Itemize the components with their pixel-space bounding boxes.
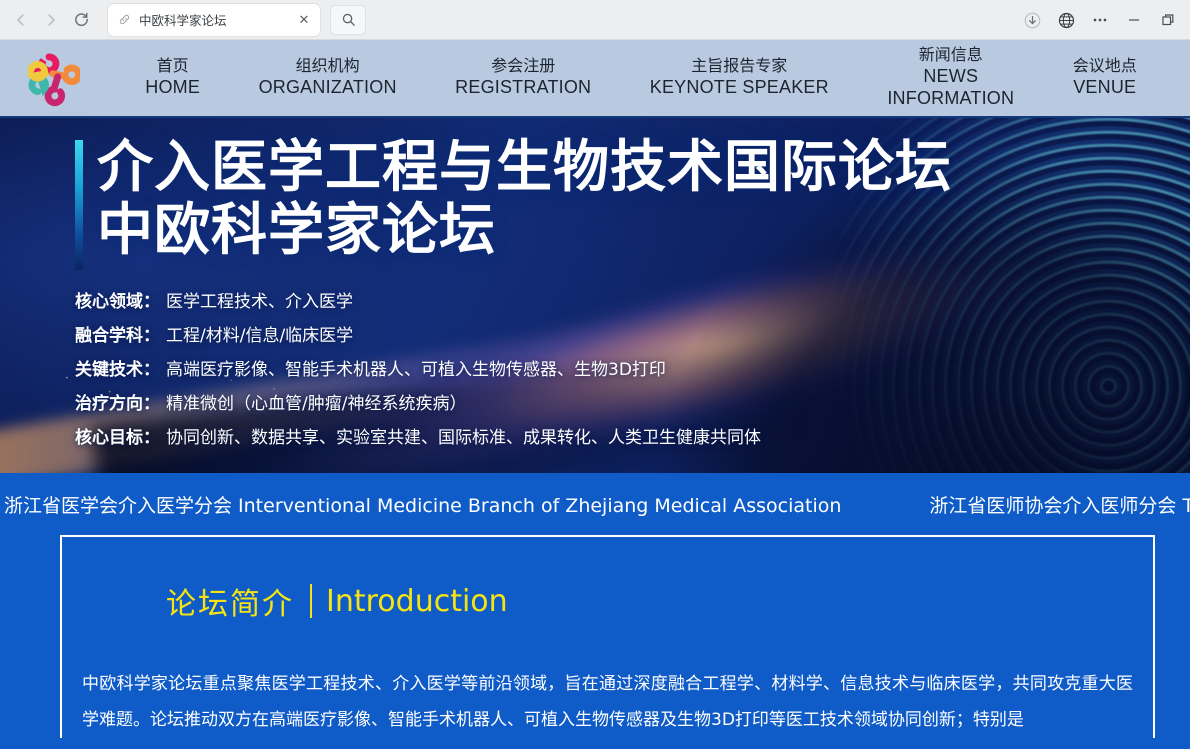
nav-item-news-information[interactable]: 新闻信息 NEWS INFORMATION [887,39,1014,117]
more-options-button[interactable] [1084,4,1116,36]
nav-item-news-information-en2: INFORMATION [887,88,1014,110]
globe-button[interactable] [1050,4,1082,36]
nav-item-venue-en: VENUE [1073,77,1137,99]
more-options-icon [1091,11,1109,29]
close-icon[interactable]: ✕ [296,12,312,28]
download-button[interactable] [1016,4,1048,36]
hero-detail-row: 核心领域： 医学工程技术、介入医学 [75,287,1190,312]
restore-window-icon [1159,11,1177,29]
search-button[interactable] [330,5,366,35]
nav-item-organization-cn: 组织机构 [259,57,397,77]
hero-detail-row: 核心目标： 协同创新、数据共享、实验室共建、国际标准、成果转化、人类卫生健康共同… [75,423,1190,448]
globe-icon [1057,11,1076,30]
introduction-panel: 论坛简介 Introduction 中欧科学家论坛重点聚焦医学工程技术、介入医学… [60,535,1155,738]
hero-detail-value: 高端医疗影像、智能手术机器人、可植入生物传感器、生物3D打印 [166,355,666,380]
forward-arrow-icon [43,12,59,28]
tab-title: 中欧科学家论坛 [139,10,296,29]
site-navigation-bar: 首页 HOME 组织机构 ORGANIZATION 参会注册 REGISTRAT… [0,40,1190,118]
nav-item-venue[interactable]: 会议地点 VENUE [1073,39,1137,117]
nav-item-home[interactable]: 首页 HOME [145,39,200,117]
nav-item-keynote-speaker[interactable]: 主旨报告专家 KEYNOTE SPEAKER [650,39,829,117]
minimize-button[interactable] [1118,4,1150,36]
nav-item-registration-cn: 参会注册 [455,57,591,77]
nav-item-news-information-en: NEWS [887,66,1014,88]
link-icon [116,12,132,28]
heading-divider [310,584,312,618]
nav-item-news-information-cn: 新闻信息 [887,46,1014,66]
nav-item-organization[interactable]: 组织机构 ORGANIZATION [259,39,397,117]
introduction-heading-cn: 论坛简介 [166,579,294,623]
nav-item-keynote-speaker-cn: 主旨报告专家 [650,57,829,77]
hero-detail-label: 核心目标： [75,423,160,448]
hero-title-line1: 介入医学工程与生物技术国际论坛 [97,135,952,200]
reload-icon [73,11,90,28]
hero-detail-row: 治疗方向： 精准微创（心血管/肿瘤/神经系统疾病） [75,389,1190,414]
hero-detail-row: 关键技术： 高端医疗影像、智能手术机器人、可植入生物传感器、生物3D打印 [75,355,1190,380]
site-nav-items: 首页 HOME 组织机构 ORGANIZATION 参会注册 REGISTRAT… [80,39,1190,117]
search-icon [341,12,356,27]
hero-title: 介入医学工程与生物技术国际论坛 中欧科学家论坛 [97,136,1190,263]
nav-item-registration[interactable]: 参会注册 REGISTRATION [455,39,591,117]
hero-detail-value: 精准微创（心血管/肿瘤/神经系统疾病） [166,389,466,414]
tab-strip: 中欧科学家论坛 ✕ [108,4,320,36]
hero-content: 介入医学工程与生物技术国际论坛 中欧科学家论坛 核心领域： 医学工程技术、介入医… [0,118,1190,448]
back-arrow-icon [13,12,29,28]
hero-detail-label: 关键技术： [75,355,160,380]
window-controls [1016,0,1184,40]
hero-detail-label: 融合学科： [75,321,160,346]
hero-detail-label: 核心领域： [75,287,160,312]
nav-item-home-cn: 首页 [145,57,200,77]
nav-item-keynote-speaker-en: KEYNOTE SPEAKER [650,77,829,99]
minimize-icon [1125,11,1143,29]
browser-nav-buttons [6,5,96,35]
hero-detail-value: 协同创新、数据共享、实验室共建、国际标准、成果转化、人类卫生健康共同体 [166,423,761,448]
organization-name-2: 浙江省医师协会介入医师分会 Th [929,491,1190,518]
introduction-paragraph: 中欧科学家论坛重点聚焦医学工程技术、介入医学等前沿领域，旨在通过深度融合工程学、… [82,667,1133,738]
introduction-heading: 论坛简介 Introduction [166,579,1153,623]
hero-detail-value: 工程/材料/信息/临床医学 [166,321,353,346]
hero-detail-value: 医学工程技术、介入医学 [166,287,353,312]
pinwheel-logo-icon[interactable] [18,47,80,109]
back-button[interactable] [6,5,36,35]
introduction-heading-en: Introduction [326,584,508,619]
hero-detail-list: 核心领域： 医学工程技术、介入医学 融合学科： 工程/材料/信息/临床医学 关键… [75,287,1190,448]
organization-bar: 浙江省医学会介入医学分会 Interventional Medicine Bra… [0,473,1190,535]
page-body: 论坛简介 Introduction 中欧科学家论坛重点聚焦医学工程技术、介入医学… [0,535,1190,749]
browser-chrome: 中欧科学家论坛 ✕ [0,0,1190,40]
restore-button[interactable] [1152,4,1184,36]
hero-detail-row: 融合学科： 工程/材料/信息/临床医学 [75,321,1190,346]
nav-item-registration-en: REGISTRATION [455,77,591,99]
forward-button[interactable] [36,5,66,35]
nav-item-home-en: HOME [145,77,200,99]
reload-button[interactable] [66,5,96,35]
nav-item-organization-en: ORGANIZATION [259,77,397,99]
hero-detail-label: 治疗方向： [75,389,160,414]
browser-tab[interactable]: 中欧科学家论坛 ✕ [108,4,320,36]
hero-title-block: 介入医学工程与生物技术国际论坛 中欧科学家论坛 [75,136,1190,263]
hero-title-line2: 中欧科学家论坛 [97,199,1190,262]
download-icon [1023,11,1042,30]
hero-banner: 介入医学工程与生物技术国际论坛 中欧科学家论坛 核心领域： 医学工程技术、介入医… [0,118,1190,473]
organization-name-1: 浙江省医学会介入医学分会 Interventional Medicine Bra… [4,491,841,518]
nav-item-venue-cn: 会议地点 [1073,57,1137,77]
hero-accent-bar [75,140,83,270]
